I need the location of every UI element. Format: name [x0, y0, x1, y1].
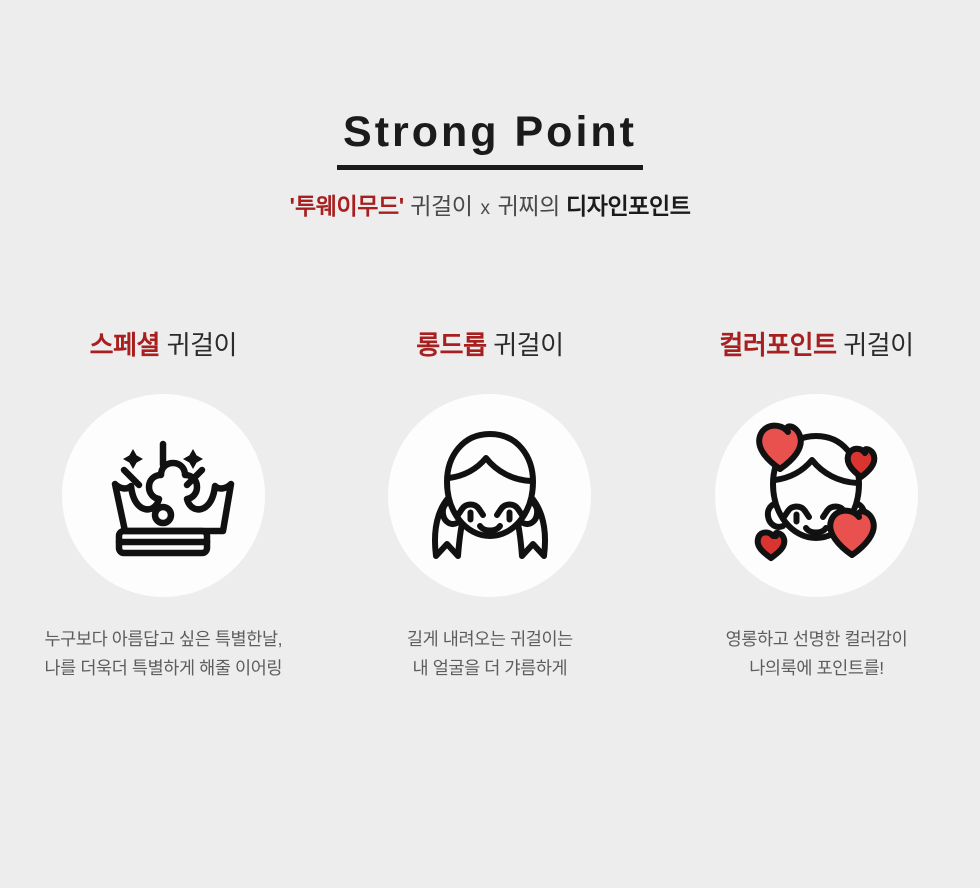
feature-caption: 영롱하고 선명한 컬러감이 나의룩에 포인트를! [726, 625, 908, 682]
page-title: Strong Point [337, 108, 643, 170]
feature-icon-circle [62, 394, 265, 597]
subtitle-emphasis: 디자인포인트 [566, 193, 691, 219]
feature-caption-line-2: 나를 더욱더 특별하게 해줄 이어링 [44, 654, 282, 682]
feature-title-highlight: 롱드롭 [416, 330, 486, 360]
feature-title-highlight: 스페셜 [90, 330, 160, 360]
feature-caption-line-2: 나의룩에 포인트를! [726, 654, 908, 682]
feature-caption-line-1: 누구보다 아름답고 싶은 특별한날, [44, 625, 282, 653]
feature-icon-circle [715, 394, 918, 597]
subtitle-brand: 투웨이무드 [295, 193, 399, 219]
feature-caption-line-1: 길게 내려오는 귀걸이는 [407, 625, 573, 653]
feature-title-rest: 귀걸이 [843, 330, 913, 360]
subtitle-middle: 귀걸이 [410, 193, 472, 219]
feature-icon-circle [388, 394, 591, 597]
feature-title: 컬러포인트 귀걸이 [719, 330, 913, 361]
subtitle-quote-close: ' [399, 193, 404, 219]
strong-point-section: Strong Point '투웨이무드' 귀걸이 x 귀찌의 디자인포인트 스페… [0, 0, 980, 888]
subtitle-x-separator: x [479, 198, 492, 219]
feature-title-highlight: 컬러포인트 [719, 330, 836, 360]
hearts-face-icon [732, 412, 900, 580]
feature-column-color-point: 컬러포인트 귀걸이 [653, 330, 980, 699]
subtitle: '투웨이무드' 귀걸이 x 귀찌의 디자인포인트 [0, 192, 980, 222]
feature-caption-line-1: 영롱하고 선명한 컬러감이 [726, 625, 908, 653]
feature-title: 스페셜 귀걸이 [90, 330, 237, 361]
subtitle-middle-2: 귀찌의 [498, 193, 560, 219]
feature-caption-line-2: 내 얼굴을 더 갸름하게 [407, 654, 573, 682]
feature-title-rest: 귀걸이 [167, 330, 237, 360]
section-header: Strong Point '투웨이무드' 귀걸이 x 귀찌의 디자인포인트 [0, 108, 980, 222]
feature-title-rest: 귀걸이 [493, 330, 563, 360]
feature-title: 롱드롭 귀걸이 [416, 330, 563, 361]
crown-icon [88, 421, 238, 571]
feature-caption: 길게 내려오는 귀걸이는 내 얼굴을 더 갸름하게 [407, 625, 573, 682]
long-drop-earring-face-icon [410, 416, 570, 576]
feature-caption: 누구보다 아름답고 싶은 특별한날, 나를 더욱더 특별하게 해줄 이어링 [44, 625, 282, 682]
feature-columns: 스페셜 귀걸이 [0, 330, 980, 699]
feature-column-long-drop: 롱드롭 귀걸이 [327, 330, 654, 699]
feature-column-special: 스페셜 귀걸이 [0, 330, 327, 699]
